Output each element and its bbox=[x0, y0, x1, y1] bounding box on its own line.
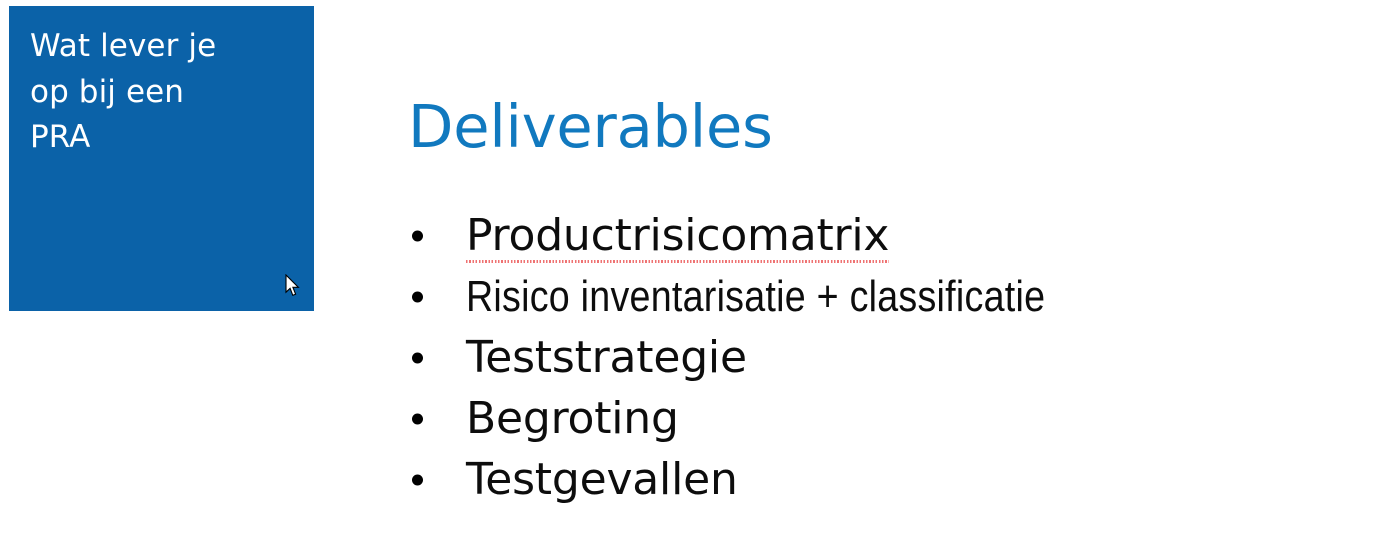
list-item: Begroting bbox=[405, 388, 1143, 449]
list-item-label: Productrisicomatrix bbox=[466, 211, 889, 261]
list-item: Teststrategie bbox=[405, 327, 1143, 388]
list-item-label: Testgevallen bbox=[466, 455, 738, 505]
bullet-icon bbox=[412, 413, 423, 424]
page-title: Deliverables bbox=[408, 94, 773, 160]
list-item-label: Begroting bbox=[466, 394, 679, 444]
presentation-slide: Wat lever je op bij een PRA Deliverables… bbox=[0, 0, 1375, 547]
list-item: Testgevallen bbox=[405, 449, 1143, 510]
deliverables-list: Productrisicomatrix Risico inventarisati… bbox=[405, 205, 1143, 510]
bullet-icon bbox=[412, 474, 423, 485]
topic-panel-text: Wat lever je op bij een PRA bbox=[30, 24, 294, 161]
list-item: Risico inventarisatie + classificatie bbox=[405, 266, 1143, 327]
bullet-icon bbox=[412, 230, 423, 241]
bullet-icon bbox=[412, 291, 423, 302]
mouse-pointer-arrow-icon bbox=[285, 274, 301, 298]
list-item-label: Teststrategie bbox=[466, 333, 747, 383]
slide-content: Deliverables Productrisicomatrix Risico … bbox=[405, 0, 1370, 547]
bullet-icon bbox=[412, 352, 423, 363]
topic-panel: Wat lever je op bij een PRA bbox=[9, 6, 314, 311]
list-item-label: Risico inventarisatie + classificatie bbox=[466, 272, 1045, 322]
list-item: Productrisicomatrix bbox=[405, 205, 1143, 266]
